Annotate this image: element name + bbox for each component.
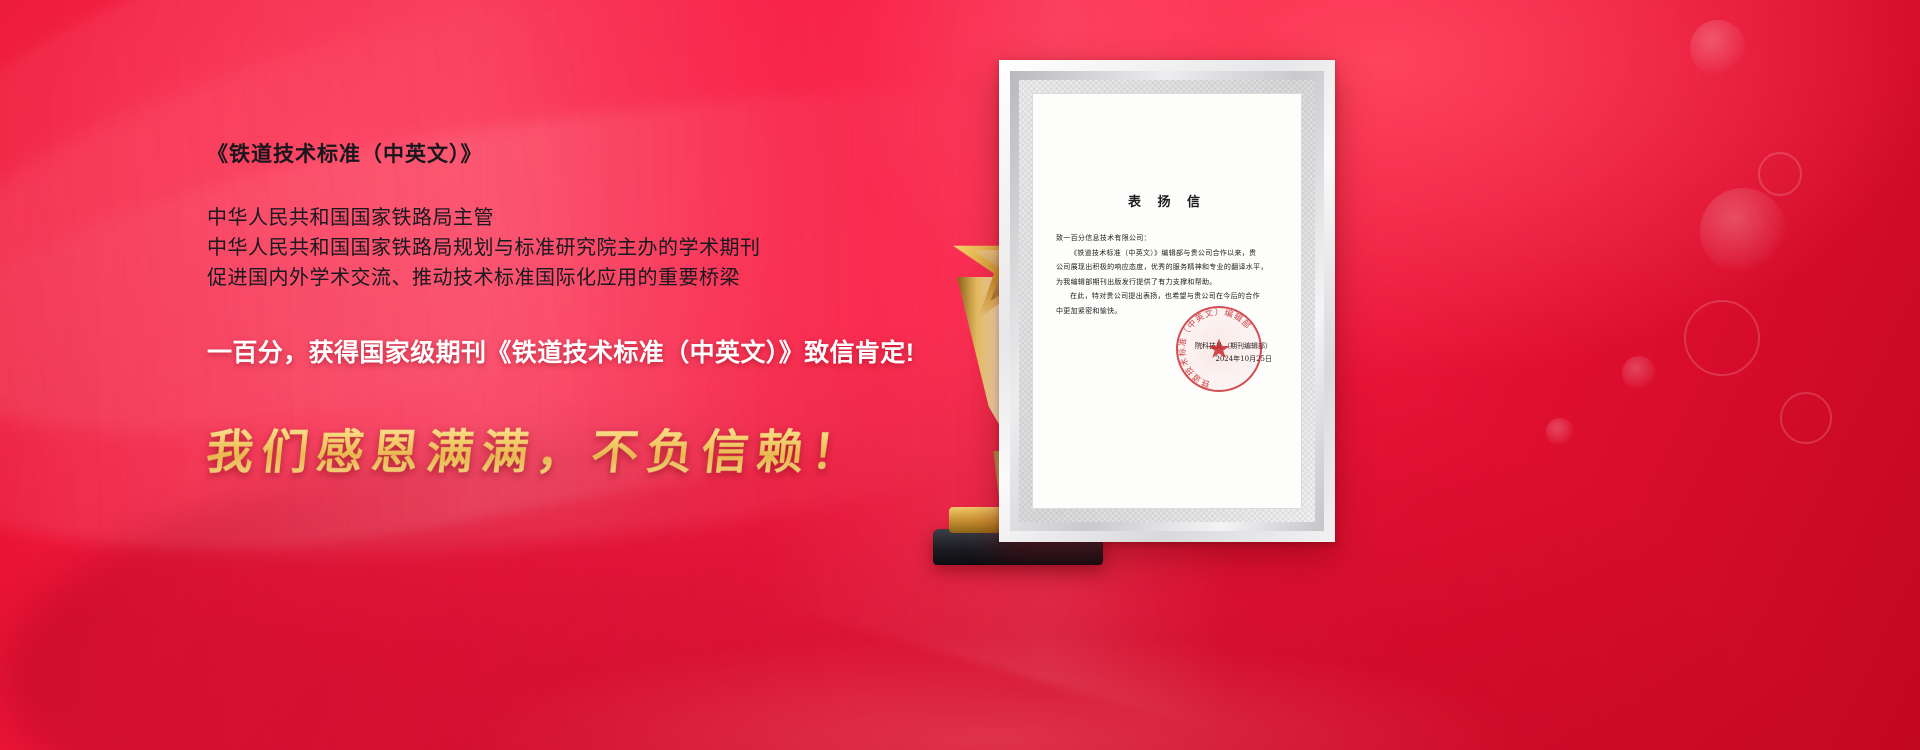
bokeh-circle-4: [1684, 300, 1760, 376]
banner-calligraphy-slogan: 我们感恩满满，不负信赖！: [203, 413, 1010, 482]
bottom-glow: [0, 590, 1920, 750]
banner-headline: 一百分，获得国家级期刊《铁道技术标准（中英文）》致信肯定!: [207, 333, 1007, 369]
journal-title: 《铁道技术标准（中英文）》: [207, 142, 1007, 167]
certificate-signature: 铁道技术标准（中英文）编辑部 院科技处（期刊编辑部） 2024年10月25日: [1056, 340, 1278, 366]
bokeh-circle-7: [1546, 418, 1574, 446]
banner-stage: 《铁道技术标准（中英文）》 中华人民共和国国家铁路局主管 中华人民共和国国家铁路…: [0, 0, 1920, 750]
journal-info-line: 促进国内外学术交流、推动技术标准国际化应用的重要桥梁: [207, 263, 1007, 293]
banner-text-block: 《铁道技术标准（中英文）》 中华人民共和国国家铁路局主管 中华人民共和国国家铁路…: [207, 142, 1007, 482]
bokeh-circle-5: [1622, 356, 1656, 390]
certificate-body-line: 在此，特对贵公司提出表扬，也希望与贵公司在今后的合作: [1056, 290, 1278, 304]
red-seal-stamp-icon: 铁道技术标准（中英文）编辑部: [1176, 306, 1262, 392]
certificate-body: 致一百分信息技术有限公司： 《铁道技术标准（中英文）》编辑部与贵公司合作以来，贵…: [1056, 232, 1278, 318]
certificate-body-line: 致一百分信息技术有限公司：: [1056, 232, 1278, 246]
journal-info-line: 中华人民共和国国家铁路局规划与标准研究院主办的学术期刊: [207, 233, 1007, 263]
framed-certificate: 表 扬 信 致一百分信息技术有限公司： 《铁道技术标准（中英文）》编辑部与贵公司…: [999, 60, 1335, 542]
certificate-paper: 表 扬 信 致一百分信息技术有限公司： 《铁道技术标准（中英文）》编辑部与贵公司…: [1032, 93, 1302, 509]
certificate-title: 表 扬 信: [1056, 191, 1278, 210]
certificate-body-line: 为我编辑部期刊出版发行提供了有力支撑和帮助。: [1056, 276, 1278, 290]
certificate-body-line: 《铁道技术标准（中英文）》编辑部与贵公司合作以来，贵: [1056, 247, 1278, 261]
bokeh-circle-2: [1758, 152, 1802, 196]
bokeh-circle-3: [1700, 188, 1786, 274]
journal-info-line: 中华人民共和国国家铁路局主管: [207, 203, 1007, 233]
journal-info-list: 中华人民共和国国家铁路局主管 中华人民共和国国家铁路局规划与标准研究院主办的学术…: [207, 203, 1007, 293]
certificate-body-line: 公司展现出积极的响应态度，优秀的服务精神和专业的翻译水平，: [1056, 261, 1278, 275]
bokeh-circle-1: [1690, 20, 1746, 76]
bokeh-circle-6: [1780, 392, 1832, 444]
